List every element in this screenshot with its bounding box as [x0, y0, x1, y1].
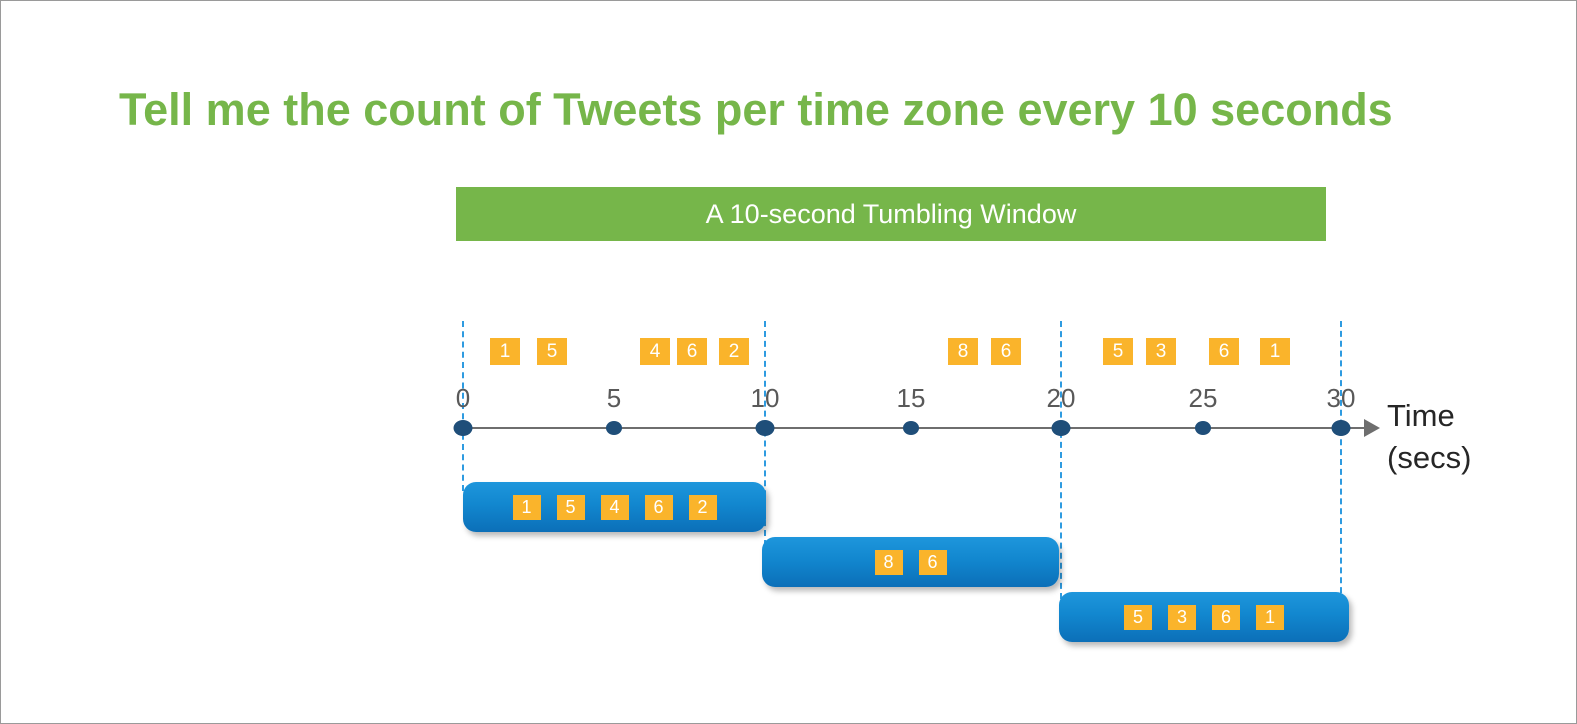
event-tile: 5 — [537, 338, 567, 365]
event-tile: 6 — [677, 338, 707, 365]
axis-tick-dot — [756, 420, 775, 436]
window-event-tile: 4 — [601, 495, 629, 520]
timeline-diagram: 051015202530 15462865361 15462865361 Tim… — [1, 1, 1577, 724]
event-tile: 3 — [1146, 338, 1176, 365]
window-event-tile: 6 — [1212, 605, 1240, 630]
axis-tick-dot — [903, 421, 919, 435]
axis-tick-label: 30 — [1327, 385, 1356, 411]
axis-tick-label: 20 — [1047, 385, 1076, 411]
axis-tick-dot — [1195, 421, 1211, 435]
axis-tick-label: 15 — [897, 385, 926, 411]
axis-tick-dot — [606, 421, 622, 435]
time-axis-arrow-icon — [1364, 419, 1380, 437]
tumbling-window-box: 5361 — [1059, 592, 1349, 642]
axis-tick-label: 5 — [607, 385, 621, 411]
event-tile: 6 — [1209, 338, 1239, 365]
window-event-tile: 2 — [689, 495, 717, 520]
axis-tick-label: 25 — [1189, 385, 1218, 411]
window-event-tile: 6 — [919, 550, 947, 575]
axis-tick-label: 0 — [456, 385, 470, 411]
window-event-tile: 1 — [1256, 605, 1284, 630]
tumbling-window-box: 86 — [762, 537, 1059, 587]
axis-tick-dot — [1052, 420, 1071, 436]
event-tile: 2 — [719, 338, 749, 365]
event-tile: 8 — [948, 338, 978, 365]
tumbling-window-box: 15462 — [463, 482, 766, 532]
axis-caption-line1: Time — [1387, 395, 1471, 437]
axis-tick-dot — [1332, 420, 1351, 436]
event-tile: 4 — [640, 338, 670, 365]
axis-tick-dot — [454, 420, 473, 436]
window-event-tile: 1 — [513, 495, 541, 520]
window-event-tile: 5 — [1124, 605, 1152, 630]
slide-canvas: Tell me the count of Tweets per time zon… — [0, 0, 1577, 724]
event-tile: 6 — [991, 338, 1021, 365]
window-boundary-guide — [1060, 321, 1062, 599]
window-event-tile: 3 — [1168, 605, 1196, 630]
axis-tick-label: 10 — [751, 385, 780, 411]
window-boundary-guide — [1340, 321, 1342, 603]
event-tile: 5 — [1103, 338, 1133, 365]
event-tile: 1 — [490, 338, 520, 365]
axis-caption-line2: (secs) — [1387, 437, 1471, 479]
window-event-tile: 6 — [645, 495, 673, 520]
window-event-tile: 8 — [875, 550, 903, 575]
axis-caption: Time (secs) — [1387, 395, 1471, 479]
event-tile: 1 — [1260, 338, 1290, 365]
window-event-tile: 5 — [557, 495, 585, 520]
